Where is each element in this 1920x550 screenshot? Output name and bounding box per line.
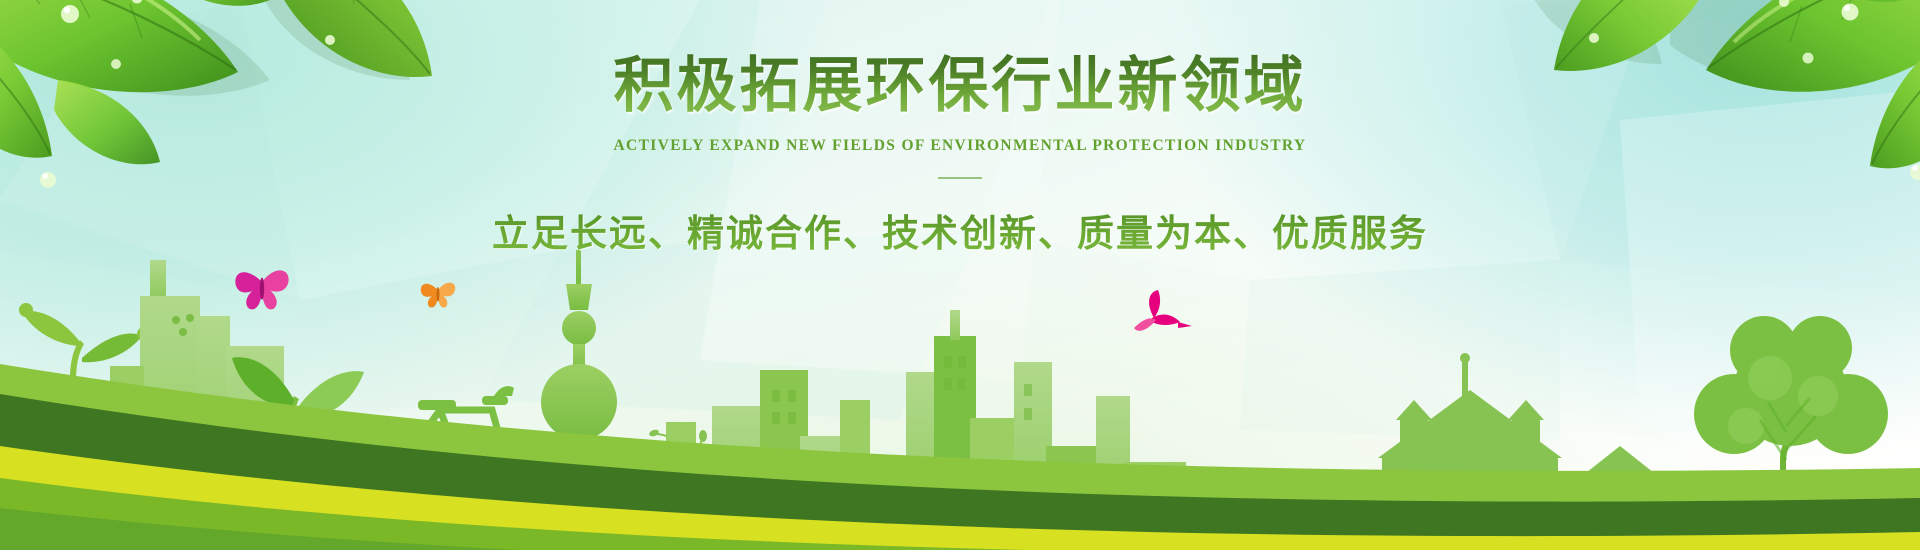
banner-subtitle-english: ACTIVELY EXPAND NEW FIELDS OF ENVIRONMEN… <box>0 137 1920 155</box>
environmental-banner: 积极拓展环保行业新领域 ACTIVELY EXPAND NEW FIELDS O… <box>0 0 1920 550</box>
banner-text-block: 积极拓展环保行业新领域 ACTIVELY EXPAND NEW FIELDS O… <box>0 52 1920 257</box>
title-divider <box>938 177 982 179</box>
wave-ribbons <box>0 320 1920 550</box>
butterfly-orange-icon <box>421 283 455 308</box>
butterfly-magenta-icon <box>235 270 288 309</box>
banner-tagline: 立足长远、精诚合作、技术创新、质量为本、优质服务 <box>0 203 1920 257</box>
banner-title: 积极拓展环保行业新领域 <box>0 52 1920 121</box>
